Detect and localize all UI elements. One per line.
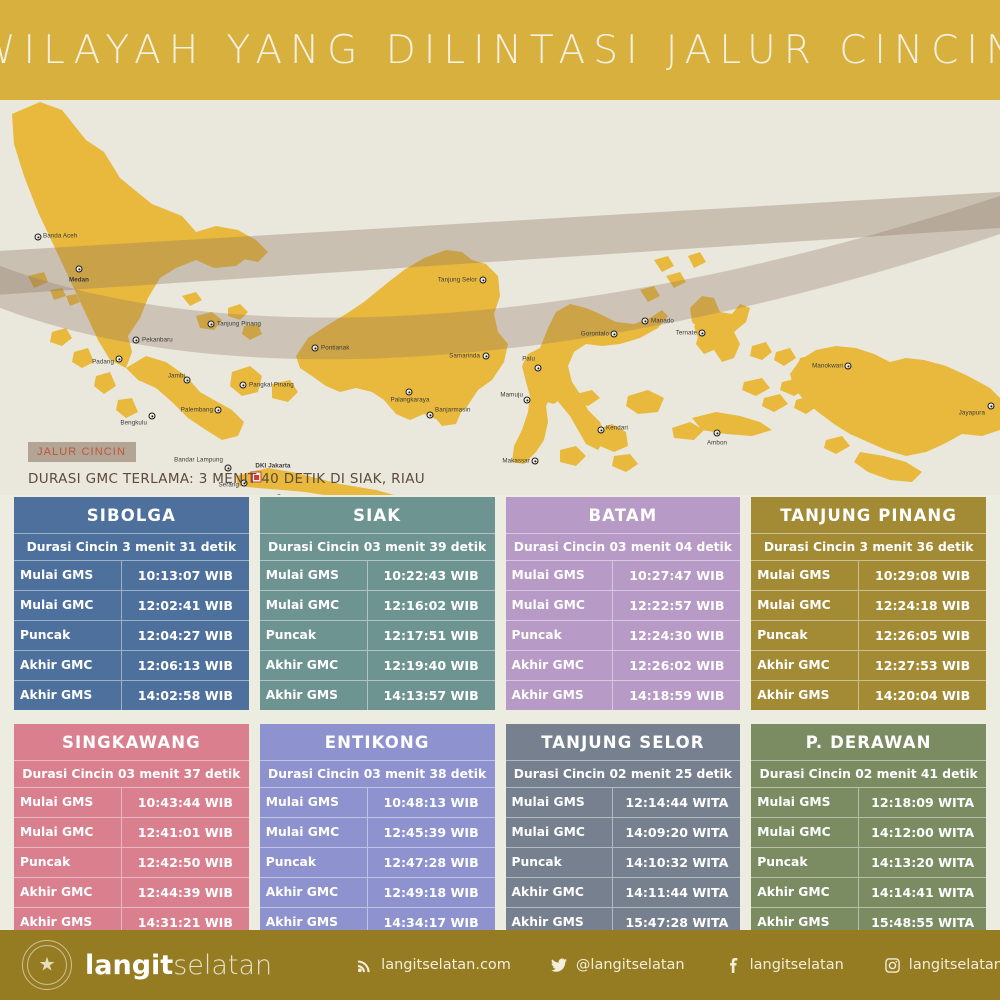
card-title: TANJUNG PINANG	[751, 497, 986, 533]
city-label: Ternate	[676, 330, 697, 337]
city-dot-icon	[611, 331, 618, 338]
social-link-facebook[interactable]: langitselatan	[725, 957, 844, 974]
row-value: 14:13:57 WIB	[368, 681, 495, 710]
city-dot-icon	[988, 403, 995, 410]
row-value: 14:10:32 WITA	[613, 848, 740, 877]
row-value: 12:19:40 WIB	[368, 651, 495, 680]
city-dot-icon	[312, 345, 319, 352]
table-row: Akhir GMC12:27:53 WIB	[751, 650, 986, 680]
city-dot-icon	[76, 266, 83, 273]
social-link-label: langitselatanmedia	[909, 957, 1000, 973]
row-label: Akhir GMC	[506, 651, 614, 680]
table-row: Akhir GMS14:02:58 WIB	[14, 680, 249, 710]
row-label: Akhir GMS	[506, 681, 614, 710]
row-value: 12:24:18 WIB	[859, 591, 986, 620]
city-dot-icon	[116, 356, 123, 363]
table-row: Akhir GMC12:06:13 WIB	[14, 650, 249, 680]
page-title: WILAYAH YANG DILINTASI JALUR CINCIN	[0, 28, 1000, 73]
city-label: Pekanbaru	[142, 337, 173, 344]
city-label: Palu	[522, 356, 535, 363]
table-row: Akhir GMC14:11:44 WITA	[506, 877, 741, 907]
row-label: Mulai GMS	[751, 561, 859, 590]
table-row: Akhir GMS14:20:04 WIB	[751, 680, 986, 710]
row-value: 10:22:43 WIB	[368, 561, 495, 590]
brand-wordmark: langitselatan	[85, 952, 272, 979]
city-dot-icon	[524, 397, 531, 404]
social-link-instagram[interactable]: langitselatanmedia	[884, 957, 1000, 974]
table-row: Puncak14:13:20 WITA	[751, 847, 986, 877]
row-value: 12:26:05 WIB	[859, 621, 986, 650]
card-title: TANJUNG SELOR	[506, 724, 741, 760]
city-dot-icon	[699, 330, 706, 337]
city-label: Ambon	[707, 440, 727, 447]
city-label: Samarinda	[449, 353, 480, 360]
row-value: 12:45:39 WIB	[368, 818, 495, 847]
social-link-label: langitselatan.com	[381, 957, 511, 973]
row-value: 12:06:13 WIB	[122, 651, 249, 680]
card-title: SINGKAWANG	[14, 724, 249, 760]
city-label: Pangkal Pinang	[249, 382, 294, 389]
row-value: 12:18:09 WITA	[859, 788, 986, 817]
row-value: 14:13:20 WITA	[859, 848, 986, 877]
city-label: Palangkaraya	[390, 397, 429, 404]
table-row: Mulai GMC12:16:02 WIB	[260, 590, 495, 620]
row-label: Mulai GMS	[506, 788, 614, 817]
city-label: Manokwari	[812, 363, 843, 370]
rss-icon	[356, 957, 373, 974]
table-row: Mulai GMS12:18:09 WITA	[751, 787, 986, 817]
table-row: Puncak12:17:51 WIB	[260, 620, 495, 650]
city-label: Pontianak	[321, 345, 349, 352]
city-dot-icon	[845, 363, 852, 370]
row-value: 12:02:41 WIB	[122, 591, 249, 620]
map-caption: DURASI GMC TERLAMA: 3 MENIT 40 DETIK DI …	[28, 471, 425, 487]
card-duration: Durasi Cincin 3 menit 31 detik	[14, 533, 249, 560]
row-value: 12:24:30 WIB	[613, 621, 740, 650]
city-dot-icon	[642, 318, 649, 325]
row-value: 14:09:20 WITA	[613, 818, 740, 847]
table-row: Mulai GMC12:02:41 WIB	[14, 590, 249, 620]
table-row: Akhir GMC12:44:39 WIB	[14, 877, 249, 907]
timing-card: TANJUNG PINANGDurasi Cincin 3 menit 36 d…	[751, 497, 986, 710]
city-dot-icon	[215, 407, 222, 414]
infographic-page: WILAYAH YANG DILINTASI JALUR CINCIN	[0, 0, 1000, 1000]
row-label: Mulai GMS	[260, 788, 368, 817]
timing-card: TANJUNG SELORDurasi Cincin 02 menit 25 d…	[506, 724, 741, 937]
row-label: Puncak	[260, 621, 368, 650]
twitter-icon	[551, 957, 568, 974]
row-label: Mulai GMS	[14, 561, 122, 590]
row-label: Puncak	[751, 621, 859, 650]
row-value: 12:49:18 WIB	[368, 878, 495, 907]
table-row: Akhir GMC14:14:41 WITA	[751, 877, 986, 907]
card-duration: Durasi Cincin 03 menit 38 detik	[260, 760, 495, 787]
city-timing-cards: SIBOLGADurasi Cincin 3 menit 31 detikMul…	[0, 497, 1000, 937]
row-label: Mulai GMC	[14, 591, 122, 620]
row-value: 12:47:28 WIB	[368, 848, 495, 877]
row-label: Puncak	[506, 848, 614, 877]
city-dot-icon	[276, 495, 283, 496]
city-dot-icon	[149, 413, 156, 420]
row-label: Mulai GMC	[260, 591, 368, 620]
table-row: Akhir GMS14:13:57 WIB	[260, 680, 495, 710]
row-label: Puncak	[260, 848, 368, 877]
city-label: Medan	[69, 277, 89, 284]
row-label: Akhir GMC	[260, 651, 368, 680]
row-value: 12:16:02 WIB	[368, 591, 495, 620]
city-dot-icon	[240, 382, 247, 389]
table-row: Puncak14:10:32 WITA	[506, 847, 741, 877]
brand-block: ★ langitselatan	[22, 940, 272, 990]
row-value: 12:44:39 WIB	[122, 878, 249, 907]
indonesia-map-svg	[0, 100, 1000, 495]
table-row: Akhir GMC12:19:40 WIB	[260, 650, 495, 680]
city-label: Makassar	[502, 458, 530, 465]
city-dot-icon	[714, 430, 721, 437]
row-label: Akhir GMC	[751, 651, 859, 680]
row-value: 10:13:07 WIB	[122, 561, 249, 590]
social-link-twitter[interactable]: @langitselatan	[551, 957, 685, 974]
row-label: Mulai GMC	[751, 591, 859, 620]
row-label: Akhir GMS	[260, 681, 368, 710]
city-dot-icon	[133, 337, 140, 344]
timing-card: ENTIKONGDurasi Cincin 03 menit 38 detikM…	[260, 724, 495, 937]
city-label: Banjarmasin	[435, 407, 471, 414]
row-value: 12:17:51 WIB	[368, 621, 495, 650]
row-label: Mulai GMC	[14, 818, 122, 847]
row-value: 10:43:44 WIB	[122, 788, 249, 817]
timing-card: BATAMDurasi Cincin 03 menit 04 detikMula…	[506, 497, 741, 710]
table-row: Mulai GMC12:45:39 WIB	[260, 817, 495, 847]
brand-primary: langit	[85, 950, 173, 981]
card-title: SIAK	[260, 497, 495, 533]
city-label: Kendari	[606, 425, 628, 432]
city-label: Padang	[92, 359, 114, 366]
city-dot-icon	[483, 353, 490, 360]
table-row: Puncak12:26:05 WIB	[751, 620, 986, 650]
row-label: Mulai GMC	[260, 818, 368, 847]
city-label: Tanjung Selor	[438, 277, 477, 284]
city-dot-icon	[598, 427, 605, 434]
table-row: Mulai GMC14:09:20 WITA	[506, 817, 741, 847]
city-label: Bengkulu	[120, 420, 147, 427]
city-dot-icon	[427, 412, 434, 419]
row-value: 14:12:00 WITA	[859, 818, 986, 847]
table-row: Mulai GMC12:41:01 WIB	[14, 817, 249, 847]
card-title: ENTIKONG	[260, 724, 495, 760]
row-label: Akhir GMC	[506, 878, 614, 907]
timing-card: SIBOLGADurasi Cincin 3 menit 31 detikMul…	[14, 497, 249, 710]
city-label: Jambi	[168, 373, 185, 380]
row-label: Akhir GMS	[14, 681, 122, 710]
row-label: Mulai GMS	[506, 561, 614, 590]
table-row: Akhir GMC12:49:18 WIB	[260, 877, 495, 907]
city-label: Palembang	[181, 407, 213, 414]
table-row: Puncak12:42:50 WIB	[14, 847, 249, 877]
city-label: Gorontalo	[581, 331, 609, 338]
row-value: 14:14:41 WITA	[859, 878, 986, 907]
row-label: Mulai GMS	[751, 788, 859, 817]
row-value: 14:11:44 WITA	[613, 878, 740, 907]
legend-jalur-cincin: JALUR CINCIN	[28, 442, 136, 462]
table-row: Mulai GMC12:22:57 WIB	[506, 590, 741, 620]
card-title: SIBOLGA	[14, 497, 249, 533]
row-value: 12:14:44 WITA	[613, 788, 740, 817]
city-dot-icon	[480, 277, 487, 284]
card-duration: Durasi Cincin 03 menit 39 detik	[260, 533, 495, 560]
table-row: Mulai GMC14:12:00 WITA	[751, 817, 986, 847]
card-title: P. DERAWAN	[751, 724, 986, 760]
row-label: Mulai GMS	[14, 788, 122, 817]
social-links: langitselatan.com@langitselatanlangitsel…	[356, 957, 1000, 974]
table-row: Mulai GMS10:27:47 WIB	[506, 560, 741, 590]
row-value: 12:42:50 WIB	[122, 848, 249, 877]
langitselatan-seal-logo: ★	[22, 940, 72, 990]
city-dot-icon	[406, 389, 413, 396]
map-legend: JALUR CINCIN DURASI GMC TERLAMA: 3 MENIT…	[28, 442, 425, 487]
row-label: Mulai GMS	[260, 561, 368, 590]
city-dot-icon	[208, 321, 215, 328]
table-row: Akhir GMS14:18:59 WIB	[506, 680, 741, 710]
table-row: Mulai GMS10:22:43 WIB	[260, 560, 495, 590]
row-label: Akhir GMS	[751, 681, 859, 710]
social-link-label: langitselatan	[750, 957, 844, 973]
card-duration: Durasi Cincin 3 menit 36 detik	[751, 533, 986, 560]
facebook-icon	[725, 957, 742, 974]
table-row: Puncak12:04:27 WIB	[14, 620, 249, 650]
city-label: Mamuju	[500, 392, 523, 399]
table-row: Mulai GMC12:24:18 WIB	[751, 590, 986, 620]
row-label: Puncak	[506, 621, 614, 650]
brand-secondary: selatan	[173, 950, 272, 981]
table-row: Mulai GMS12:14:44 WITA	[506, 787, 741, 817]
row-value: 12:41:01 WIB	[122, 818, 249, 847]
row-value: 10:29:08 WIB	[859, 561, 986, 590]
row-label: Mulai GMC	[506, 591, 614, 620]
social-link-rss[interactable]: langitselatan.com	[356, 957, 511, 974]
city-label: Jayapura	[959, 410, 985, 417]
page-footer: ★ langitselatan langitselatan.com@langit…	[0, 930, 1000, 1000]
timing-card: P. DERAWANDurasi Cincin 02 menit 41 deti…	[751, 724, 986, 937]
city-label: Tanjung Pinang	[217, 321, 261, 328]
page-header: WILAYAH YANG DILINTASI JALUR CINCIN	[0, 0, 1000, 100]
row-value: 12:22:57 WIB	[613, 591, 740, 620]
row-label: Puncak	[14, 621, 122, 650]
seal-figure-icon: ★	[38, 956, 55, 975]
city-dot-icon	[532, 458, 539, 465]
table-row: Mulai GMS10:13:07 WIB	[14, 560, 249, 590]
city-label: Banda Aceh	[43, 233, 77, 240]
card-duration: Durasi Cincin 03 menit 04 detik	[506, 533, 741, 560]
table-row: Puncak12:47:28 WIB	[260, 847, 495, 877]
timing-card: SINGKAWANGDurasi Cincin 03 menit 37 deti…	[14, 724, 249, 937]
city-dot-icon	[35, 234, 42, 241]
row-value: 12:27:53 WIB	[859, 651, 986, 680]
card-duration: Durasi Cincin 02 menit 41 detik	[751, 760, 986, 787]
row-value: 14:02:58 WIB	[122, 681, 249, 710]
city-label: Manado	[651, 318, 674, 325]
row-label: Puncak	[751, 848, 859, 877]
card-duration: Durasi Cincin 03 menit 37 detik	[14, 760, 249, 787]
timing-card: SIAKDurasi Cincin 03 menit 39 detikMulai…	[260, 497, 495, 710]
instagram-icon	[884, 957, 901, 974]
row-label: Mulai GMC	[751, 818, 859, 847]
row-label: Puncak	[14, 848, 122, 877]
row-value: 14:18:59 WIB	[613, 681, 740, 710]
row-label: Akhir GMC	[260, 878, 368, 907]
table-row: Mulai GMS10:43:44 WIB	[14, 787, 249, 817]
row-value: 14:20:04 WIB	[859, 681, 986, 710]
map-section: Banda AcehMedanPekanbaruPadangJambiBengk…	[0, 100, 1000, 495]
row-label: Mulai GMC	[506, 818, 614, 847]
row-value: 10:27:47 WIB	[613, 561, 740, 590]
city-dot-icon	[535, 365, 542, 372]
card-title: BATAM	[506, 497, 741, 533]
card-duration: Durasi Cincin 02 menit 25 detik	[506, 760, 741, 787]
table-row: Mulai GMS10:48:13 WIB	[260, 787, 495, 817]
row-value: 12:04:27 WIB	[122, 621, 249, 650]
row-label: Akhir GMC	[14, 651, 122, 680]
social-link-label: @langitselatan	[576, 957, 685, 973]
row-label: Akhir GMC	[751, 878, 859, 907]
table-row: Mulai GMS10:29:08 WIB	[751, 560, 986, 590]
row-value: 10:48:13 WIB	[368, 788, 495, 817]
table-row: Puncak12:24:30 WIB	[506, 620, 741, 650]
table-row: Akhir GMC12:26:02 WIB	[506, 650, 741, 680]
row-value: 12:26:02 WIB	[613, 651, 740, 680]
row-label: Akhir GMC	[14, 878, 122, 907]
